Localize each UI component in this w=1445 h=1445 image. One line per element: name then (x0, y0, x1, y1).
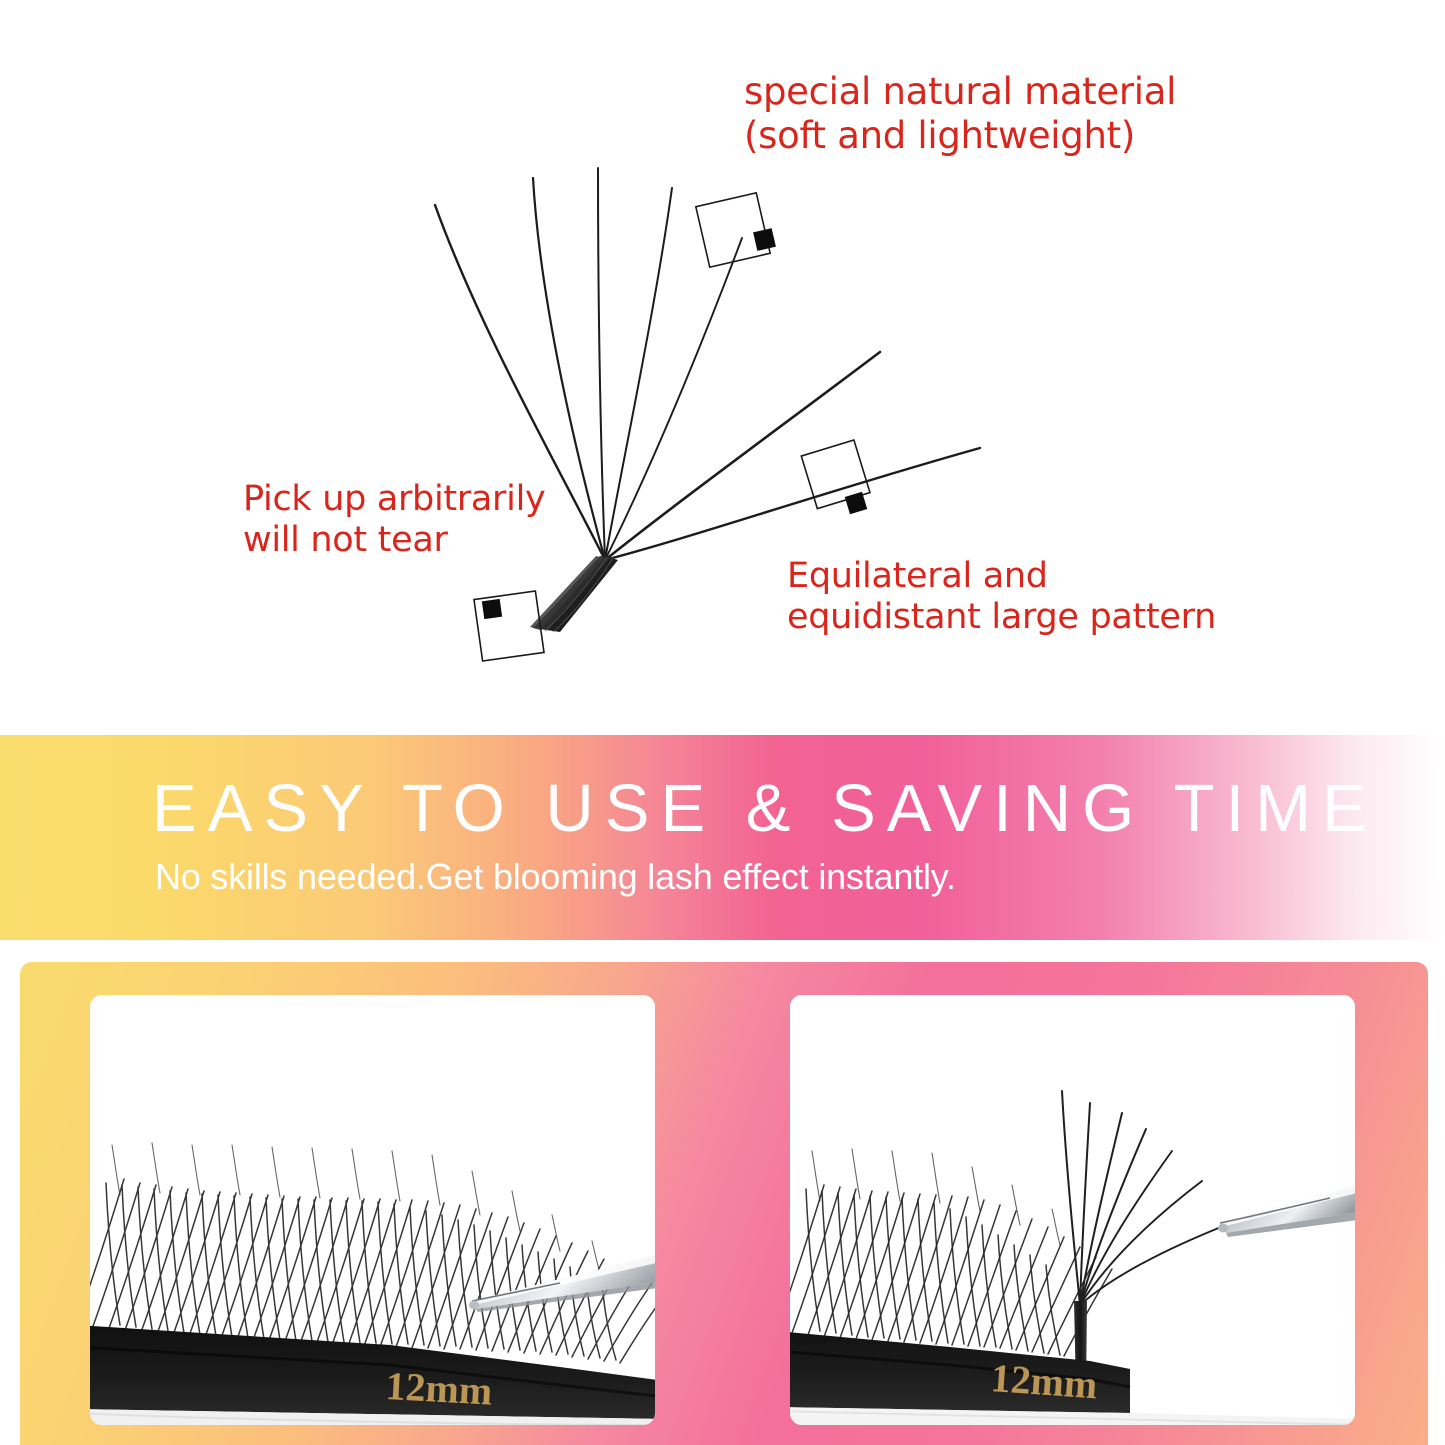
photo-card-lash-fan-pickup: 12mm 12mm (790, 995, 1355, 1425)
lash-tray-photo: 12mm (90, 995, 655, 1425)
lash-fan-illustration (0, 0, 1445, 735)
banner-headline: EASY TO USE & SAVING TIME (152, 775, 1378, 842)
tray-size-label: 12mm (989, 1355, 1099, 1407)
lash-fan-base (530, 556, 618, 632)
callout-pick-up-arbitrarily: Pick up arbitrarily will not tear (243, 479, 545, 562)
lash-fan-diagram-section: special natural material (soft and light… (0, 0, 1445, 735)
product-feature-image: special natural material (soft and light… (0, 0, 1445, 1445)
lash-fan-pickup-photo: 12mm (790, 995, 1355, 1425)
banner-subheadline: No skills needed.Get blooming lash effec… (155, 859, 956, 895)
marker-middle-right (801, 440, 870, 514)
lash-strand-3 (598, 168, 605, 560)
lash-strand-6 (605, 352, 880, 560)
callout-equilateral-pattern: Equilateral and equidistant large patter… (787, 556, 1216, 639)
photo-card-lash-tray-closeup: 12mm 12mm (90, 995, 655, 1425)
tray-size-label: 12mm (385, 1363, 494, 1414)
callout-special-natural-material: special natural material (soft and light… (744, 70, 1176, 157)
gradient-banner: EASY TO USE & SAVING TIME No skills need… (0, 735, 1445, 940)
lash-strand-4 (605, 188, 672, 560)
photo-panel: 12mm 12mm (20, 962, 1428, 1445)
lash-strand-5 (605, 238, 742, 560)
lash-strand-7 (605, 448, 980, 560)
